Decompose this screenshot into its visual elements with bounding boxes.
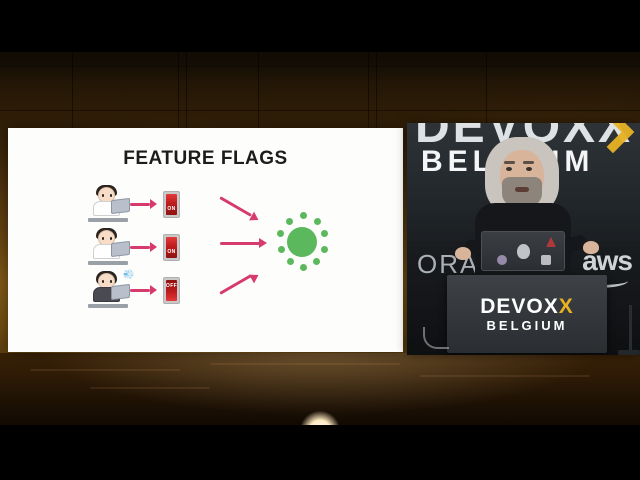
speaker-hand [583,241,599,254]
arrow-right-icon [130,285,157,295]
laptop-sticker [497,255,507,265]
lectern: DEVOXX BELGIUM [447,275,607,353]
person-at-laptop-icon [86,186,130,222]
lectern-brand-x2: X [559,296,574,317]
apple-logo-icon [517,244,530,259]
lectern-brand-x1: X [544,296,559,317]
letterbox-top [0,0,640,52]
diagram-rows: ON ON [86,184,221,304]
stage-floor-light [300,411,340,425]
arrow-right-icon [130,199,157,209]
person-at-laptop-icon [86,229,130,265]
diagram-row: ON [86,227,221,267]
lectern-subtitle: BELGIUM [487,319,568,332]
person-at-laptop-icon: 💨 [86,272,130,308]
laptop-sticker [541,255,551,265]
arrow-right-icon [130,242,157,252]
switch-state-label: ON [167,206,175,212]
feature-flag-switch[interactable]: OFF [163,277,180,304]
switch-state-label: ON [167,249,175,255]
stage-floor [0,353,640,425]
backdrop-batten [0,66,640,67]
lectern-brand-text: DEVO [480,296,544,317]
lectern-brand: DEVOXX [480,296,574,317]
slide-diagram: ON ON [8,184,403,344]
speaker-camera-panel[interactable]: DEVOXX BELGIUM ORACLE aws [407,123,640,355]
mic-stand-base [618,350,640,355]
switch-state-label: OFF [166,283,177,289]
letterbox-bottom [0,425,640,480]
frustration-mark-icon: 💨 [123,270,131,279]
diagram-row: 💨 OFF [86,270,221,310]
presentation-slide[interactable]: FEATURE FLAGS ON [8,128,403,352]
video-player[interactable]: DEVOXX ™ FEATURE FLAGS ON [0,0,640,480]
slide-title: FEATURE FLAGS [8,148,403,170]
backdrop-batten [0,110,640,111]
speaker-hand [455,247,471,260]
diagram-row: ON [86,184,221,224]
feature-flag-switch[interactable]: ON [163,234,180,261]
feature-flag-switch[interactable]: ON [163,191,180,218]
virus-icon [276,216,328,268]
mic-stand [629,305,632,351]
converging-arrows [220,184,280,309]
presenter-laptop [481,231,565,275]
